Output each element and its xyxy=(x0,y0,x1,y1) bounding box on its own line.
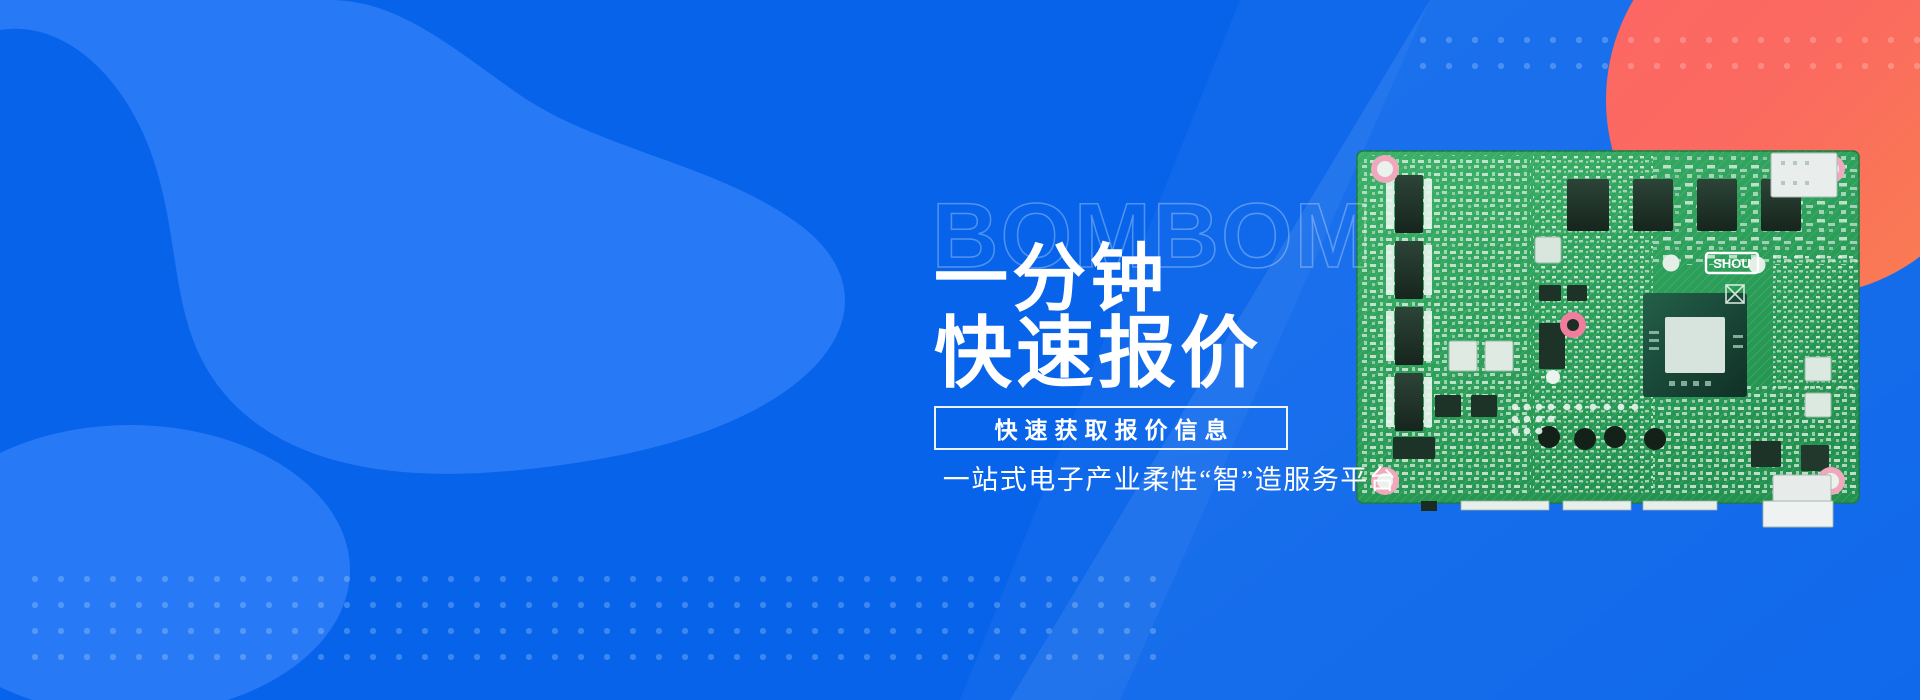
pcb-card-slot xyxy=(1771,153,1837,197)
cta-box[interactable]: 快速获取报价信息 xyxy=(934,406,1288,450)
headline-line-2: 快速报价 xyxy=(934,314,1262,392)
subtitle-text: 一站式电子产业柔性“智”造服务平台 xyxy=(840,458,1500,497)
pcb-silkscreen-label: SHOU xyxy=(1706,253,1758,273)
headline-line-1: 一分钟 xyxy=(934,242,1168,316)
promo-banner: SHOU xyxy=(0,0,1920,700)
hero-text-block: BOMBOM 一分钟 快速报价 快速获取报价信息 一站式电子产业柔性“智”造服务… xyxy=(840,190,1500,520)
cta-box-label: 快速获取报价信息 xyxy=(988,411,1235,445)
pcb-silkscreen-text: SHOU xyxy=(1713,256,1751,271)
